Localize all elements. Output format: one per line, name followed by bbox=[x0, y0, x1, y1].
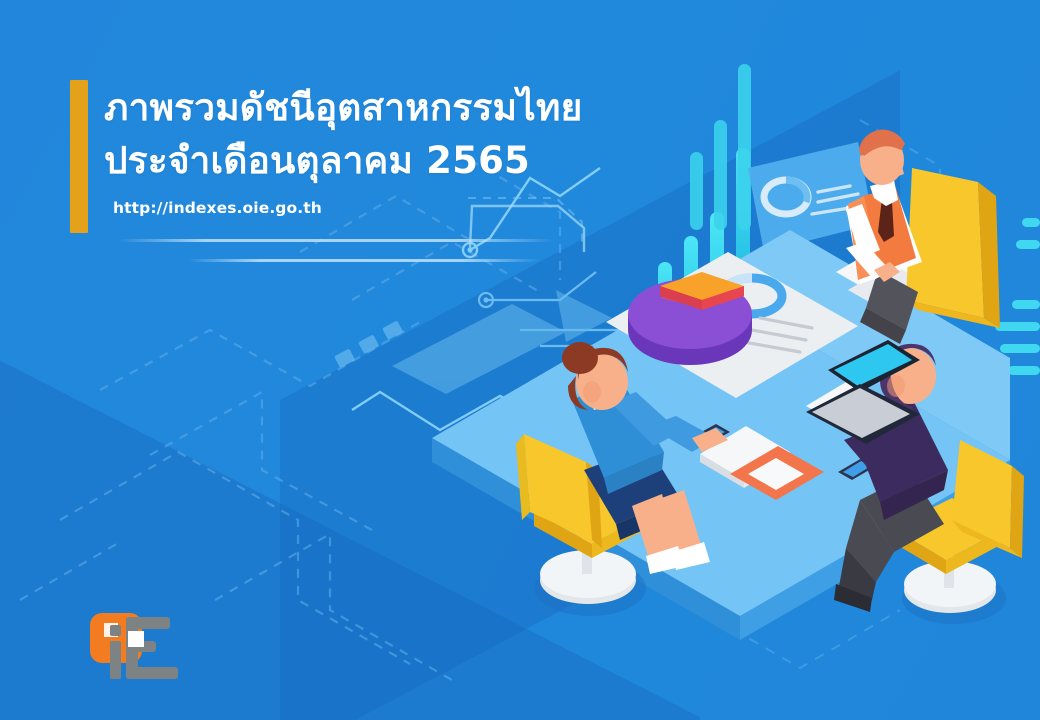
pie-chart-3d bbox=[628, 272, 752, 365]
chair-top-right bbox=[906, 168, 1000, 328]
page-title-line-2: ประจำเดือนตุลาคม 2565 bbox=[104, 135, 704, 188]
website-url[interactable]: http://indexes.oie.go.th bbox=[113, 199, 704, 217]
title-block: ภาพรวมดัชนีอุตสาหกรรมไทย ประจำเดือนตุลาค… bbox=[104, 82, 704, 217]
page-title-line-1: ภาพรวมดัชนีอุตสาหกรรมไทย bbox=[104, 82, 704, 135]
oie-logo[interactable] bbox=[84, 607, 190, 685]
logo-inner-white bbox=[128, 631, 144, 647]
logo-monogram bbox=[110, 617, 178, 679]
decorative-swoosh-upper bbox=[118, 239, 554, 242]
title-accent-bar bbox=[70, 80, 88, 233]
cover-slide: ภาพรวมดัชนีอุตสาหกรรมไทย ประจำเดือนตุลาค… bbox=[0, 0, 1040, 720]
decorative-swoosh-lower bbox=[188, 259, 540, 262]
